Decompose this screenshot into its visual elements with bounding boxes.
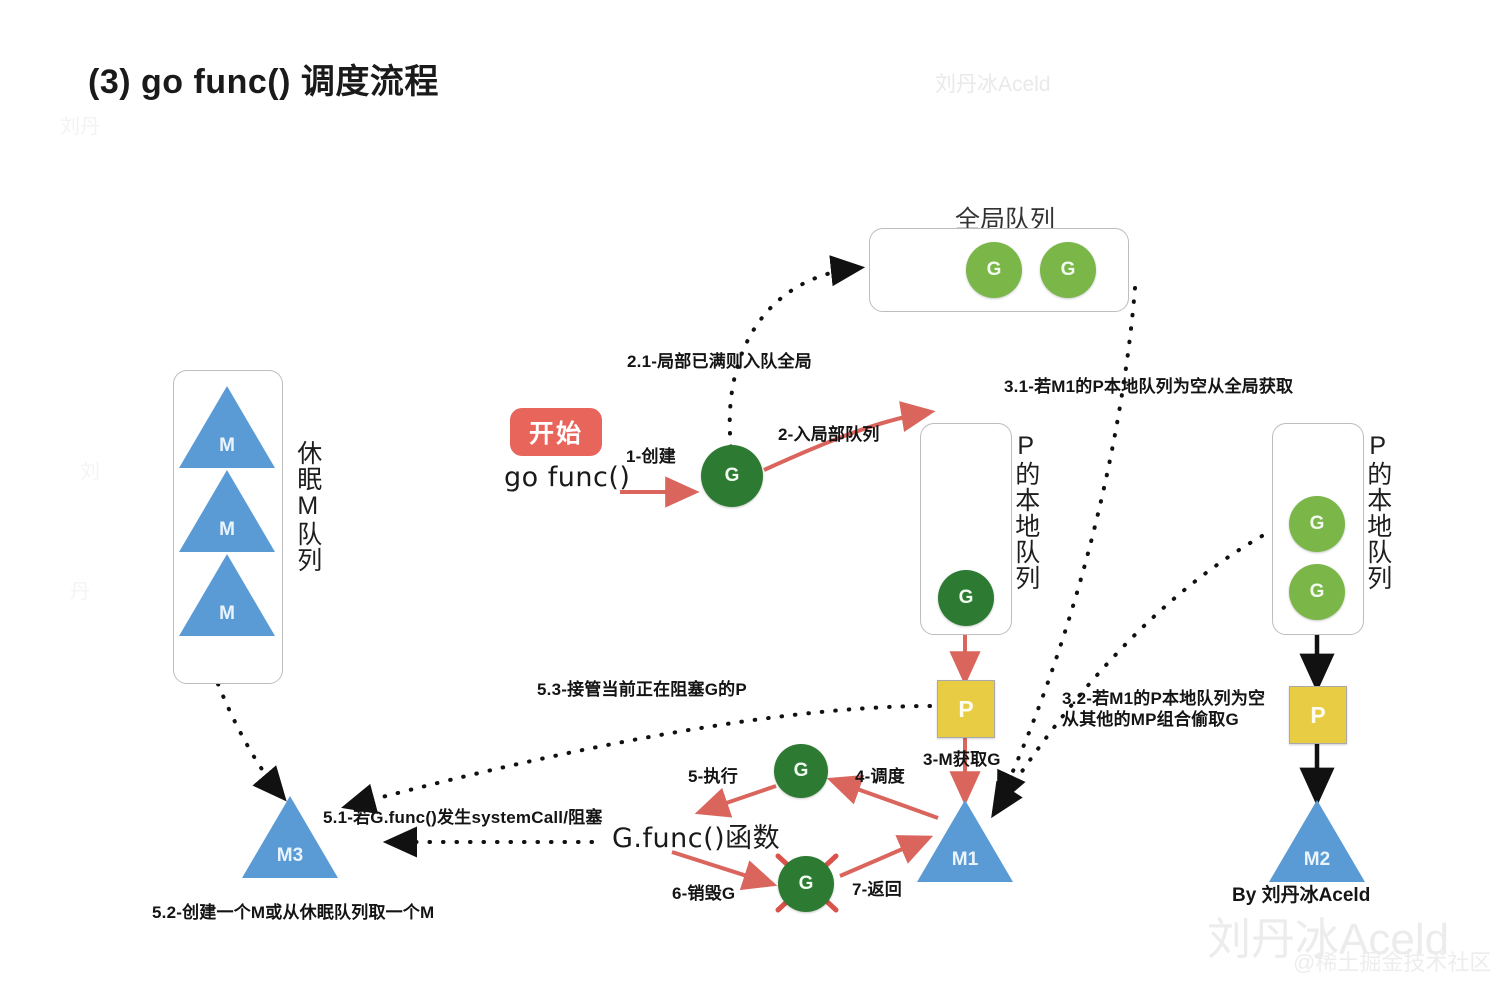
watermark-ghost-b: 刘 <box>80 455 100 484</box>
watermark-sub: @稀土掘金技术社区 <box>1293 945 1491 977</box>
step-3-2-line-2: 从其他的MP组合偷取G <box>1062 710 1239 729</box>
thread-m1[interactable]: M1 <box>917 800 1013 882</box>
start-badge[interactable]: 开始 <box>510 408 602 456</box>
step-5-label: 5-执行 <box>688 762 738 787</box>
p-local-queue-mid-g-1[interactable]: G <box>938 570 994 626</box>
triangle-shape <box>179 554 275 636</box>
processor-right[interactable]: P <box>1289 686 1347 744</box>
destroyed-goroutine[interactable]: G <box>778 856 834 912</box>
step-2-label: 2-入局部队列 <box>778 420 880 445</box>
p-local-queue-right-g-2[interactable]: G <box>1289 564 1345 620</box>
sleeping-m-queue-caption: 休眠M队列 <box>294 440 321 573</box>
diagram-canvas: (3) go func() 调度流程 刘丹冰Aceld 刘丹 刘 丹 刘丹冰Ac… <box>0 0 1512 987</box>
p-local-queue-right-caption: P的本地队列 <box>1364 432 1391 591</box>
byline: By 刘丹冰Aceld <box>1232 880 1370 907</box>
p-local-queue-right-g-1[interactable]: G <box>1289 496 1345 552</box>
triangle-shape <box>179 470 275 552</box>
go-func-label: go func() <box>504 462 630 493</box>
thread-m2[interactable]: M2 <box>1269 800 1365 882</box>
step-3-1-label: 3.1-若M1的P本地队列为空从全局获取 <box>1004 372 1293 397</box>
step-1-label: 1-创建 <box>626 442 676 467</box>
watermark-big: 刘丹冰Aceld <box>1207 903 1449 967</box>
step-2-1-label: 2.1-局部已满则入队全局 <box>627 347 812 372</box>
page-title: (3) go func() 调度流程 <box>88 54 439 103</box>
watermark-ghost-a: 刘丹 <box>60 110 100 139</box>
global-queue-g-1[interactable]: G <box>966 242 1022 298</box>
triangle-shape <box>917 800 1013 882</box>
processor-mid[interactable]: P <box>937 680 995 738</box>
g-func-label: G.func()函数 <box>612 816 780 855</box>
sleeping-m-2[interactable]: M <box>179 470 275 552</box>
p-local-queue-mid-caption: P的本地队列 <box>1012 432 1039 591</box>
step-3-2-label: 3.2-若M1的P本地队列为空 从其他的MP组合偷取G <box>1062 688 1277 731</box>
step-5-1-label: 5.1-若G.func()发生systemCall/阻塞 <box>323 803 603 828</box>
watermark-top: 刘丹冰Aceld <box>935 68 1051 98</box>
global-queue-g-2[interactable]: G <box>1040 242 1096 298</box>
step-3-2-line-1: 3.2-若M1的P本地队列为空 <box>1062 689 1265 708</box>
new-goroutine[interactable]: G <box>701 445 763 507</box>
step-3-label: 3-M获取G <box>923 745 1001 770</box>
running-goroutine[interactable]: G <box>774 744 828 798</box>
triangle-shape <box>1269 800 1365 882</box>
step-7-label: 7-返回 <box>852 875 902 900</box>
step-6-label: 6-销毁G <box>672 879 735 904</box>
triangle-shape <box>179 386 275 468</box>
step-5-2-label: 5.2-创建一个M或从休眠队列取一个M <box>152 898 434 923</box>
watermark-ghost-c: 丹 <box>70 575 90 604</box>
sleeping-m-1[interactable]: M <box>179 386 275 468</box>
step-4-label: 4-调度 <box>855 762 905 787</box>
step-5-3-label: 5.3-接管当前正在阻塞G的P <box>537 675 747 700</box>
sleeping-m-3[interactable]: M <box>179 554 275 636</box>
